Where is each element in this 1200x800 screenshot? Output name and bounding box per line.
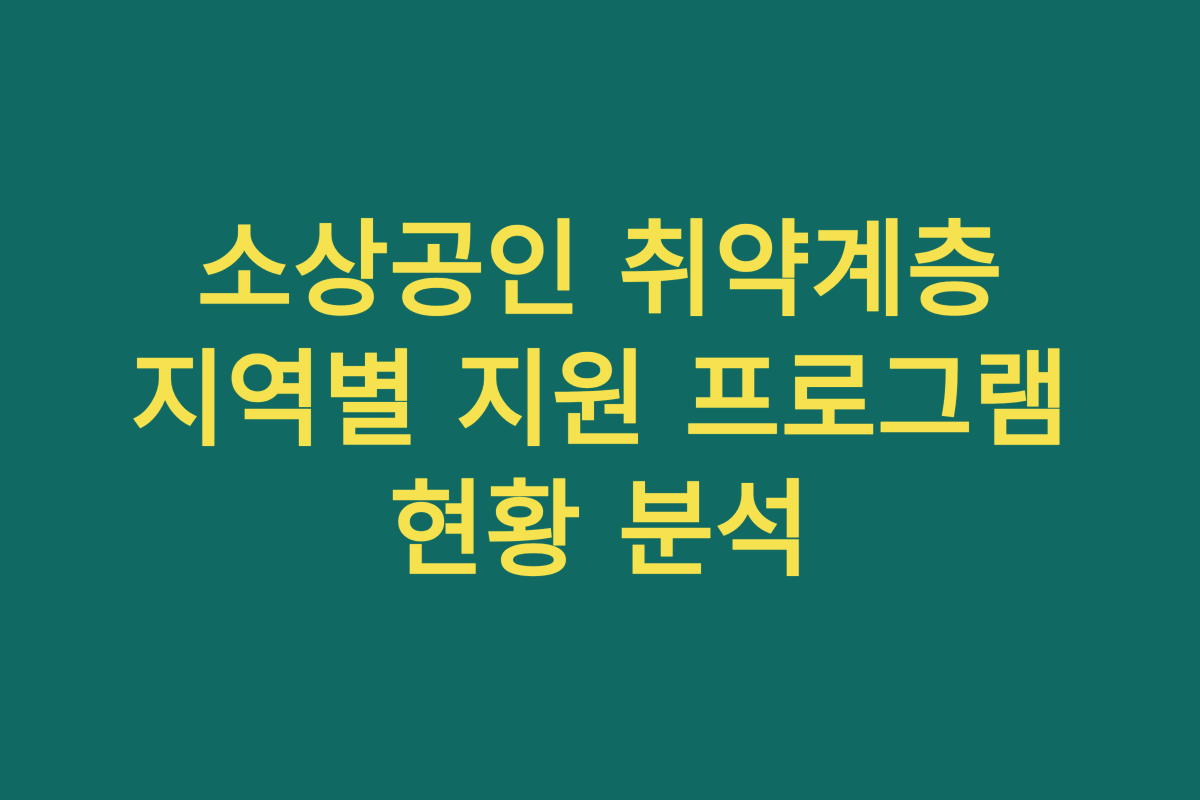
headline-block: 소상공인 취약계층 지역별 지원 프로그램 현황 분석 [100,205,1100,595]
page-title: 소상공인 취약계층 지역별 지원 프로그램 현황 분석 [116,205,1084,595]
poster-canvas: 소상공인 취약계층 지역별 지원 프로그램 현황 분석 [0,0,1200,800]
